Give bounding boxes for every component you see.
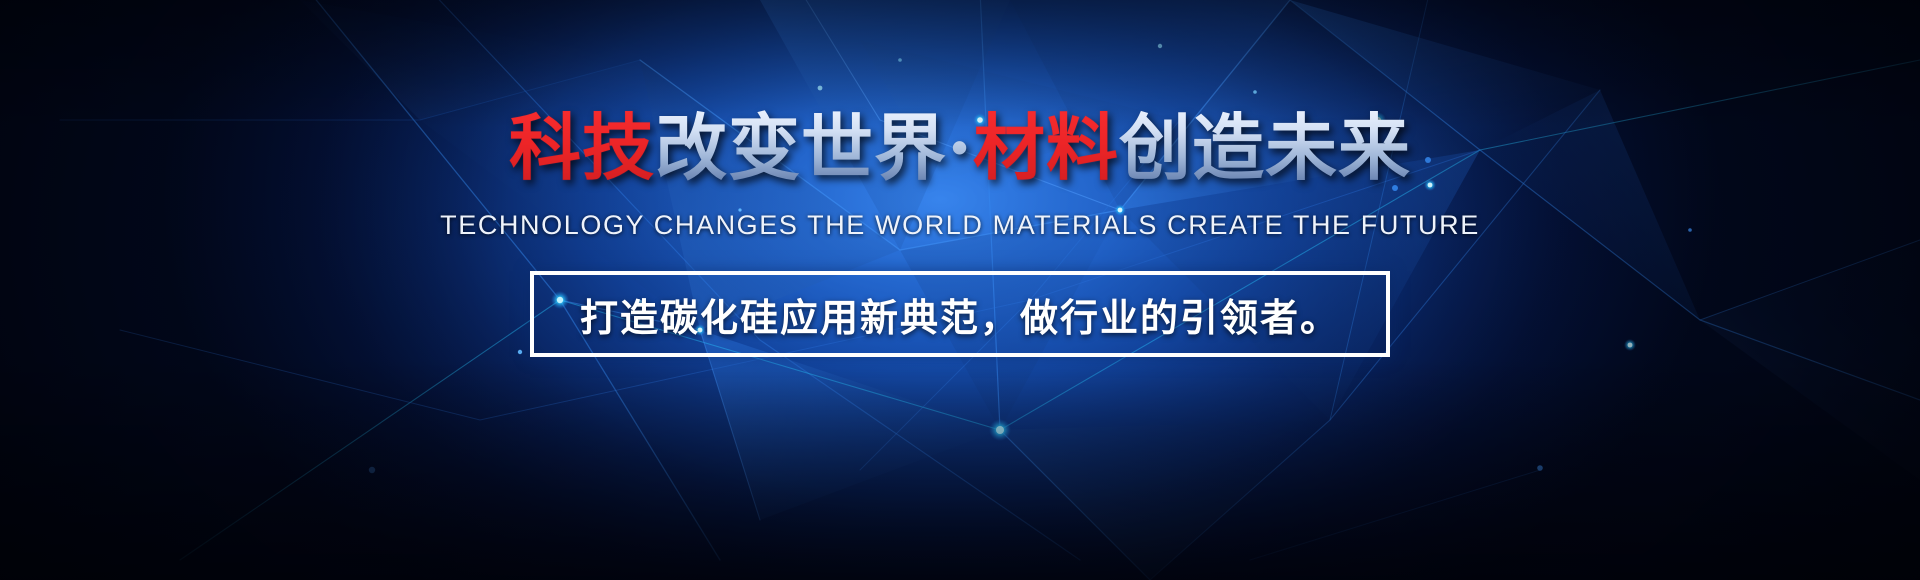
headline-segment-4: 创造未来 — [1119, 105, 1411, 190]
slogan-text: 打造碳化硅应用新典范，做行业的引领者。 — [580, 287, 1340, 342]
headline-segment-1: 科技 — [509, 105, 655, 190]
headline-segment-2: 改变世界· — [655, 105, 973, 190]
hero-banner: 科技改变世界·材料创造未来 TECHNOLOGY CHANGES THE WOR… — [0, 0, 1920, 580]
banner-content: 科技改变世界·材料创造未来 TECHNOLOGY CHANGES THE WOR… — [0, 0, 1920, 580]
subtitle: TECHNOLOGY CHANGES THE WORLD MATERIALS C… — [440, 210, 1480, 241]
slogan-box: 打造碳化硅应用新典范，做行业的引领者。 — [530, 271, 1390, 357]
headline-segment-3: 材料 — [973, 105, 1119, 190]
headline: 科技改变世界·材料创造未来 — [509, 112, 1411, 184]
